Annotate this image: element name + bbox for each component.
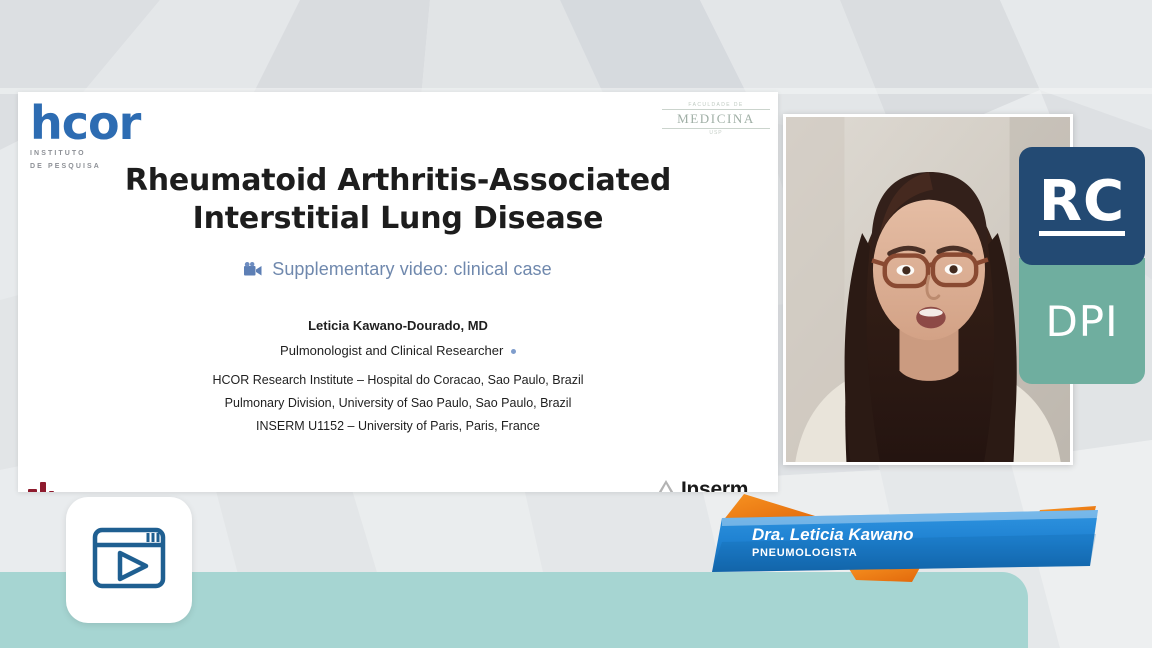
lower-third-graphic: Dra. Leticia Kawano PNEUMOLOGISTA	[660, 488, 1100, 580]
affiliation-line-1: HCOR Research Institute – Hospital do Co…	[18, 369, 778, 392]
dpi-badge[interactable]: DPI	[1019, 258, 1145, 384]
rc-badge[interactable]: RC	[1019, 147, 1145, 265]
hcor-wordmark: hcor	[30, 102, 140, 146]
presenter-role: Pulmonologist and Clinical Researcher	[18, 343, 778, 358]
video-play-window-icon	[92, 527, 166, 594]
lower-third-banner: Dra. Leticia Kawano PNEUMOLOGISTA	[660, 488, 1100, 580]
medicina-logo: FACULDADE DE MEDICINA USP	[662, 102, 770, 136]
presenter-role-text: Pulmonologist and Clinical Researcher	[280, 343, 503, 358]
presenter-block: Leticia Kawano-Dourado, MD Pulmonologist…	[18, 318, 778, 438]
slide-subtitle-text: Supplementary video: clinical case	[272, 259, 552, 280]
presenter-role-marker	[511, 349, 516, 354]
lower-third-name: Dra. Leticia Kawano	[752, 525, 914, 544]
rc-badge-inner: RC	[1039, 176, 1125, 237]
affiliation-line-2: Pulmonary Division, University of Sao Pa…	[18, 392, 778, 415]
medicina-wordmark: MEDICINA	[662, 109, 770, 129]
movie-camera-icon	[244, 262, 263, 277]
fmusp-mark-icon	[28, 482, 61, 492]
slide-title-line1: Rheumatoid Arthritis-Associated	[18, 162, 778, 200]
hcor-subtitle-line1: INSTITUTO	[30, 149, 140, 159]
lower-third-role: PNEUMOLOGISTA	[752, 547, 857, 559]
presentation-slide[interactable]: hcor INSTITUTO DE PESQUISA FACULDADE DE …	[18, 92, 778, 492]
slide-title: Rheumatoid Arthritis-Associated Intersti…	[18, 162, 778, 238]
presenter-name: Leticia Kawano-Dourado, MD	[18, 318, 778, 333]
slide-title-line2: Interstitial Lung Disease	[18, 200, 778, 238]
video-play-card[interactable]	[66, 497, 192, 623]
affiliation-line-3: INSERM U1152 – University of Paris, Pari…	[18, 415, 778, 438]
rc-badge-label: RC	[1039, 176, 1125, 228]
medicina-bottom-text: USP	[662, 130, 770, 136]
medicina-top-text: FACULDADE DE	[662, 102, 770, 108]
slide-subtitle: Supplementary video: clinical case	[18, 259, 778, 280]
dpi-badge-label: DPI	[1045, 297, 1118, 346]
